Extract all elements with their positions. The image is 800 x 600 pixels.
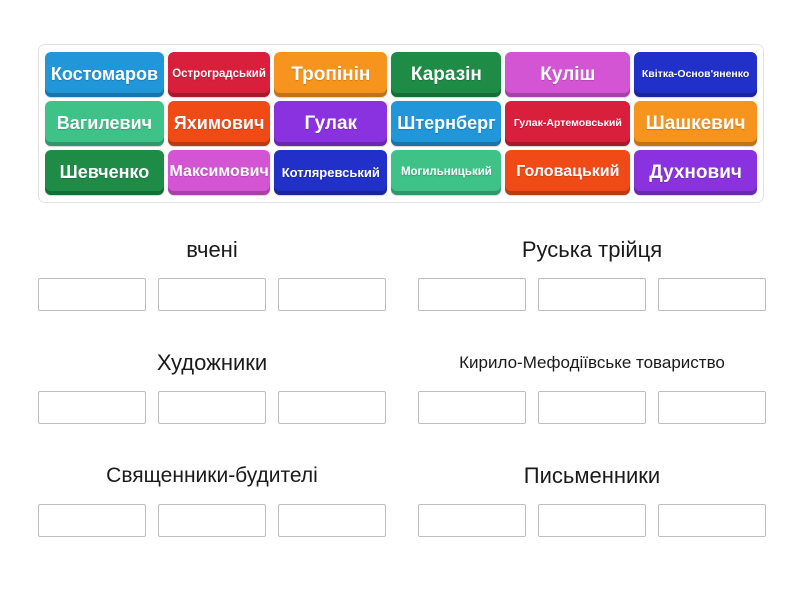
drop-slot[interactable] [158, 278, 266, 311]
category-title: Священники-будителі [100, 448, 324, 504]
drop-slot[interactable] [38, 391, 146, 424]
name-tile[interactable]: Каразін [391, 52, 501, 97]
name-tile[interactable]: Квітка-Основ'яненко [634, 52, 757, 97]
drop-slot[interactable] [658, 278, 766, 311]
category-title: вчені [180, 222, 243, 278]
drop-slot[interactable] [418, 391, 526, 424]
drop-slot[interactable] [278, 504, 386, 537]
drop-slot[interactable] [538, 391, 646, 424]
drop-slot[interactable] [658, 391, 766, 424]
slot-row [38, 504, 386, 537]
drop-slot[interactable] [38, 504, 146, 537]
drop-slot[interactable] [278, 391, 386, 424]
slot-row [38, 391, 386, 424]
name-tile[interactable]: Могильницький [391, 150, 501, 195]
name-tile[interactable]: Головацький [505, 150, 630, 195]
name-tile[interactable]: Шашкевич [634, 101, 757, 146]
name-tile[interactable]: Котляревський [274, 150, 387, 195]
drop-slot[interactable] [538, 278, 646, 311]
name-tile[interactable]: Максимович [168, 150, 270, 195]
drop-slot[interactable] [158, 391, 266, 424]
name-tile[interactable]: Гулак-Артемовський [505, 101, 630, 146]
category-group: Священники-будителі [22, 448, 402, 561]
category-title: Руська трійця [516, 222, 668, 278]
drop-slot[interactable] [418, 278, 526, 311]
name-tile[interactable]: Духнович [634, 150, 757, 195]
drop-slot[interactable] [658, 504, 766, 537]
name-tile[interactable]: Яхимович [168, 101, 270, 146]
drop-slot[interactable] [418, 504, 526, 537]
group-drop-zones: вченіРуська трійцяХудожникиКирило-Мефоді… [22, 222, 782, 561]
slot-row [418, 504, 766, 537]
tile-tray: КостомаровОстроградськийТропінінКаразінК… [38, 44, 764, 203]
category-title: Художники [151, 335, 273, 391]
name-tile[interactable]: Вагилевич [45, 101, 164, 146]
category-group: Художники [22, 335, 402, 448]
name-tile[interactable]: Костомаров [45, 52, 164, 97]
slot-row [418, 278, 766, 311]
tile-row: ВагилевичЯхимовичГулакШтернбергГулак-Арт… [45, 101, 757, 146]
slot-row [38, 278, 386, 311]
category-title: Письменники [518, 448, 666, 504]
category-group: Руська трійця [402, 222, 782, 335]
drop-slot[interactable] [38, 278, 146, 311]
drop-slot[interactable] [278, 278, 386, 311]
drop-slot[interactable] [538, 504, 646, 537]
name-tile[interactable]: Остроградський [168, 52, 270, 97]
category-group: Кирило-Мефодіївське товариство [402, 335, 782, 448]
name-tile[interactable]: Гулак [274, 101, 387, 146]
tile-row: ШевченкоМаксимовичКотляревськийМогильниц… [45, 150, 757, 195]
slot-row [418, 391, 766, 424]
category-group: вчені [22, 222, 402, 335]
drop-slot[interactable] [158, 504, 266, 537]
name-tile[interactable]: Штернберг [391, 101, 501, 146]
name-tile[interactable]: Шевченко [45, 150, 164, 195]
category-group: Письменники [402, 448, 782, 561]
name-tile[interactable]: Куліш [505, 52, 630, 97]
category-title: Кирило-Мефодіївське товариство [453, 335, 731, 391]
name-tile[interactable]: Тропінін [274, 52, 387, 97]
tile-row: КостомаровОстроградськийТропінінКаразінК… [45, 52, 757, 97]
